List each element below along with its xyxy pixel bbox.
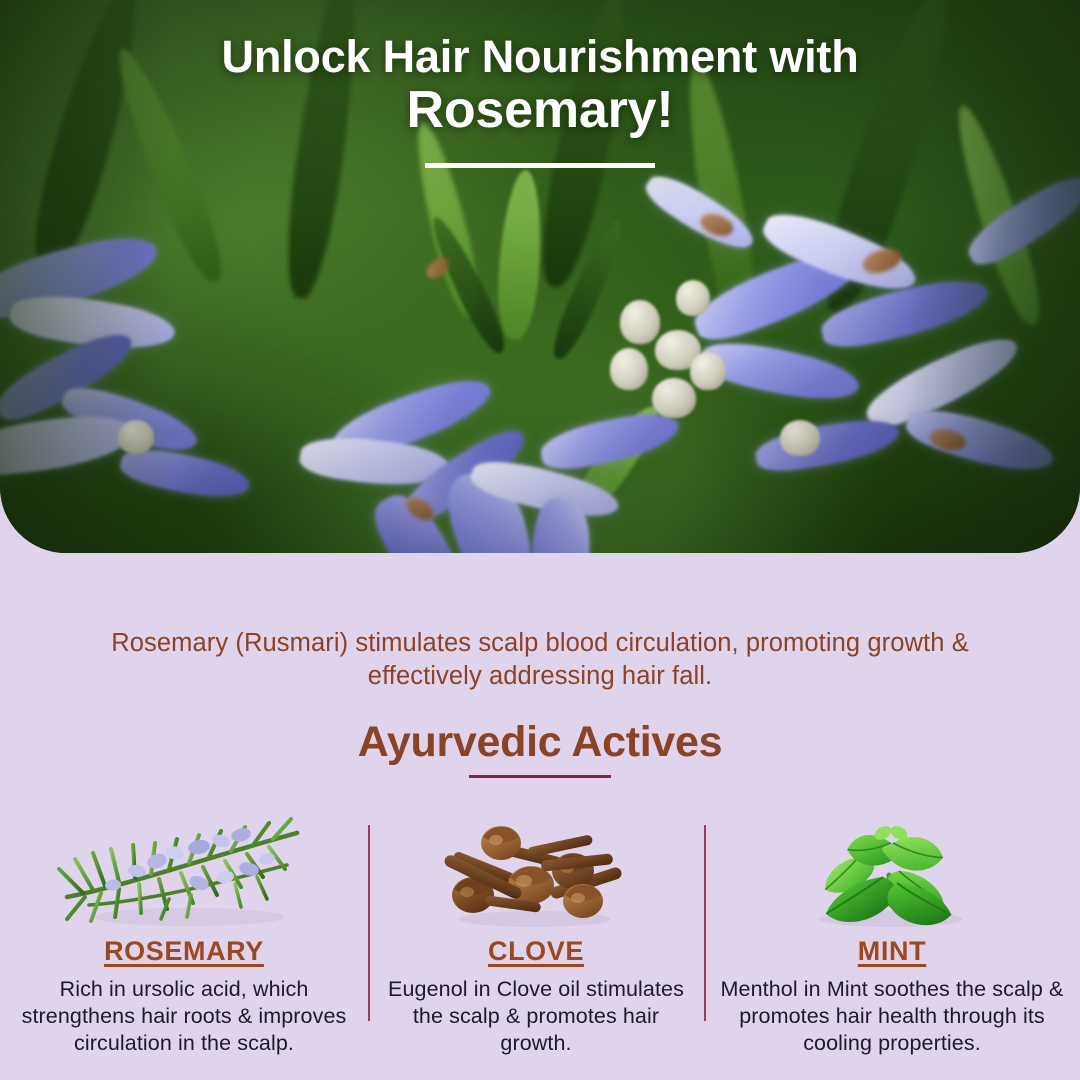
- title-line-2: Rosemary!: [0, 84, 1080, 137]
- actives-row: ROSEMARY Rich in ursolic acid, which str…: [0, 812, 1080, 1080]
- flower-bud: [118, 420, 154, 454]
- section-heading: Ayurvedic Actives: [0, 718, 1080, 767]
- flower-bud: [676, 280, 710, 316]
- flower-bud: [620, 300, 660, 344]
- rosemary-sprig-icon: [14, 812, 354, 934]
- flower-bud: [610, 348, 648, 390]
- hero-banner: Unlock Hair Nourishment with Rosemary!: [0, 0, 1080, 553]
- active-title-clove: CLOVE: [488, 936, 584, 967]
- active-body-mint: Menthol in Mint soothes the scalp & prom…: [718, 976, 1066, 1057]
- active-body-rosemary: Rich in ursolic acid, which strengthens …: [14, 976, 354, 1057]
- mint-leaves-icon: [718, 812, 1066, 934]
- flower-bud: [780, 420, 820, 456]
- flower-bud: [652, 378, 696, 418]
- flower-bud: [690, 352, 726, 390]
- intro-paragraph: Rosemary (Rusmari) stimulates scalp bloo…: [73, 627, 1008, 693]
- section-heading-underline: [469, 775, 611, 778]
- active-body-clove: Eugenol in Clove oil stimulates the scal…: [382, 976, 690, 1057]
- title-line-1: Unlock Hair Nourishment with: [0, 34, 1080, 80]
- poster-root: Unlock Hair Nourishment with Rosemary! R…: [0, 0, 1080, 1080]
- active-title-mint: MINT: [858, 936, 926, 967]
- active-card-clove: CLOVE Eugenol in Clove oil stimulates th…: [368, 812, 704, 1080]
- title-underline: [425, 163, 655, 168]
- active-title-rosemary: ROSEMARY: [104, 936, 264, 967]
- active-card-mint: MINT Menthol in Mint soothes the scalp &…: [704, 812, 1080, 1080]
- page-title: Unlock Hair Nourishment with Rosemary!: [0, 34, 1080, 137]
- active-card-rosemary: ROSEMARY Rich in ursolic acid, which str…: [0, 812, 368, 1080]
- clove-buds-icon: [382, 812, 690, 934]
